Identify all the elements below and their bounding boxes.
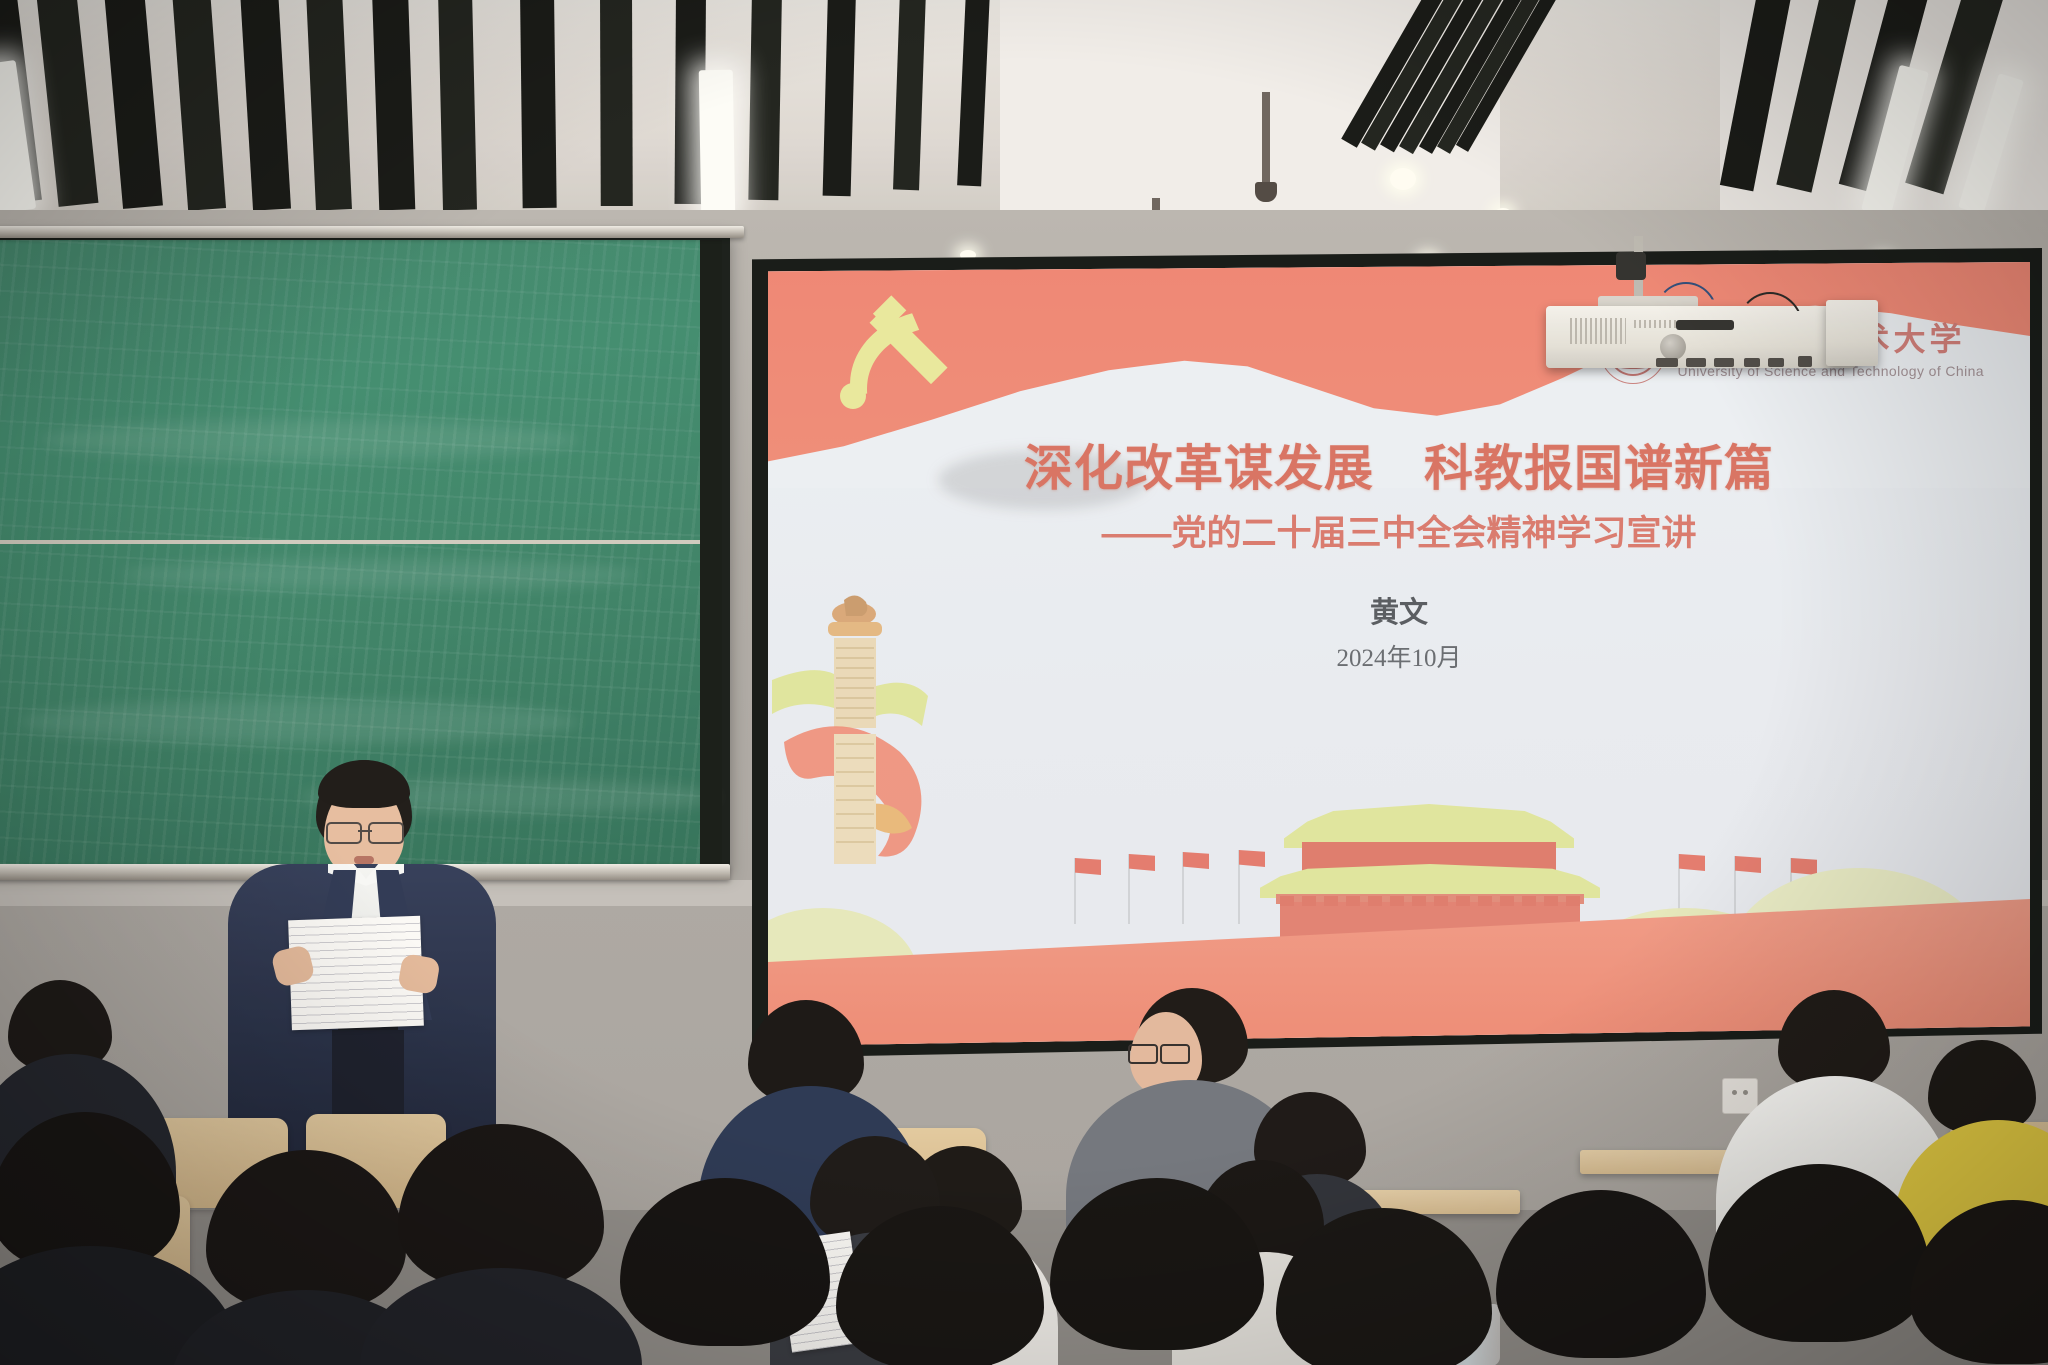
presenter-glasses — [326, 822, 404, 840]
audience-member — [376, 1124, 626, 1365]
audience-member — [1480, 1190, 1720, 1365]
projector-side-block — [1826, 300, 1878, 366]
slide-author: 黄文 — [768, 596, 2030, 630]
projector-port — [1768, 358, 1784, 367]
projector-port — [1656, 358, 1678, 367]
lecture-hall-photo: 中国科学技术大学 University of Science and Techn… — [0, 0, 2048, 1365]
audience-member — [820, 1206, 1060, 1365]
projection-screen: 中国科学技术大学 University of Science and Techn… — [768, 262, 2030, 1046]
audience-member — [1900, 1200, 2048, 1365]
audience-glasses-icon — [1128, 1044, 1190, 1060]
projector-lens — [1660, 334, 1686, 360]
slide-subtitle: ——党的二十届三中全会精神学习宣讲 — [768, 512, 2030, 556]
projector-vent — [1570, 318, 1626, 344]
presentation-slide: 中国科学技术大学 University of Science and Techn… — [768, 262, 2030, 1046]
ceiling — [0, 0, 2048, 228]
projector-cable-connector — [1676, 320, 1734, 330]
presenter-mouth — [354, 856, 374, 864]
ceiling-pendant — [1262, 92, 1270, 186]
presenter-fringe — [318, 760, 410, 808]
projector-port — [1798, 356, 1812, 367]
ceiling-spotlight — [1390, 168, 1416, 190]
ceiling-light — [699, 70, 736, 219]
audience-member — [1032, 1178, 1282, 1365]
ceiling-camera — [1616, 252, 1646, 280]
chalkboard-top-rail — [0, 226, 744, 238]
hammer-and-sickle-icon — [830, 292, 980, 422]
huabiao-column-illustration — [768, 594, 952, 914]
audience-member — [600, 1178, 850, 1365]
projector-port — [1714, 358, 1734, 367]
chalkboard-divider — [0, 540, 722, 544]
presenter — [228, 760, 498, 1160]
chalkboard-vertical-edge — [700, 240, 722, 864]
slide-date: 2024年10月 — [768, 644, 2030, 674]
projector-vent — [1634, 320, 1676, 328]
audience-member — [1258, 1208, 1508, 1365]
slide-title: 深化改革谋发展 科教报国谱新篇 — [768, 440, 2030, 498]
projector-port — [1744, 358, 1760, 367]
projector-port — [1686, 358, 1706, 367]
